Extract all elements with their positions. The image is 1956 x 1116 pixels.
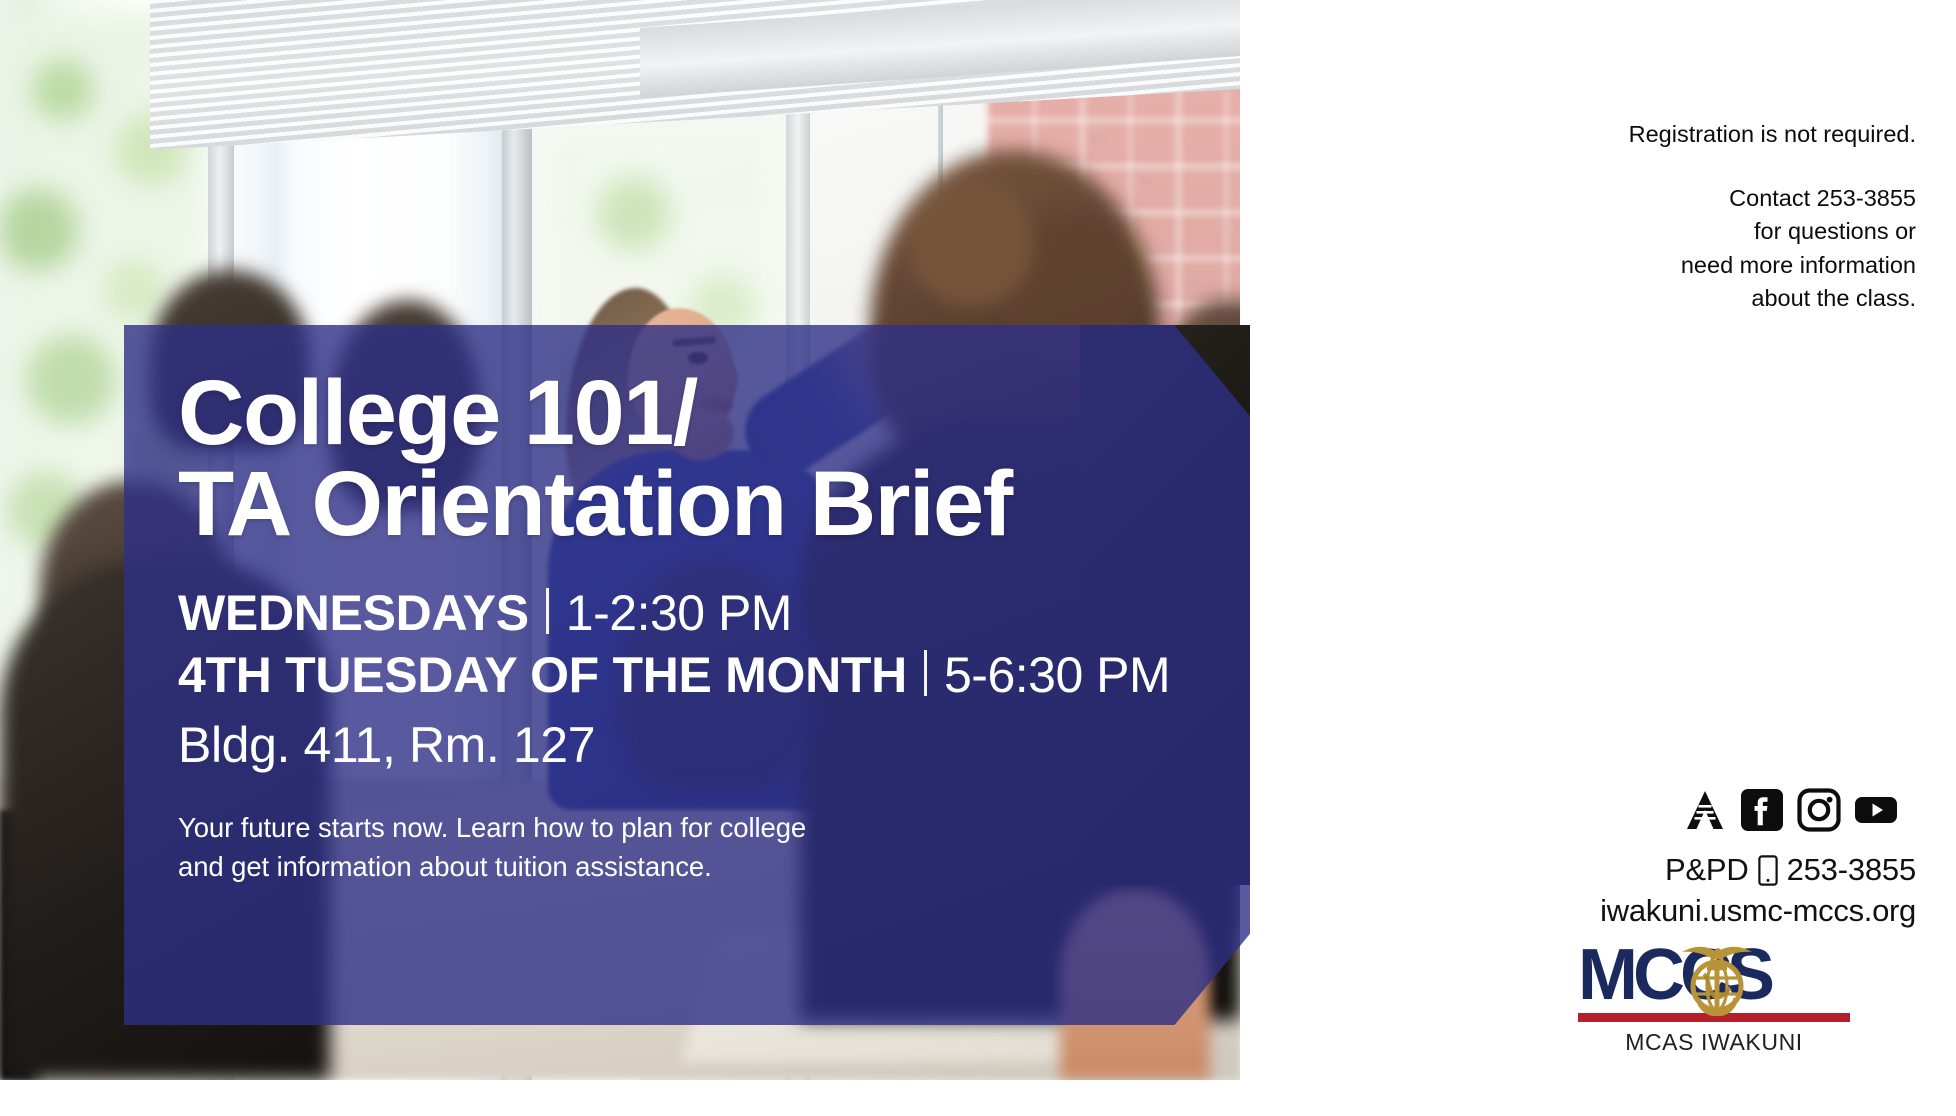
notes-block: Registration is not required. Contact 25… — [1516, 118, 1916, 316]
flyer-root: College 101/ TA Orientation Brief WEDNES… — [0, 0, 1956, 1116]
instagram-icon[interactable] — [1797, 788, 1841, 832]
event-location: Bldg. 411, Rm. 127 — [178, 716, 1188, 774]
schedule-list: WEDNESDAYS 1-2:30 PM 4TH TUESDAY OF THE … — [178, 584, 1188, 704]
registration-note: Registration is not required. — [1516, 118, 1916, 152]
phone-line: P&PD 253-3855 — [1496, 852, 1916, 888]
flyer-title-line2: TA Orientation Brief — [178, 459, 1188, 550]
mccs-app-icon[interactable] — [1683, 788, 1727, 832]
panel-text-block: College 101/ TA Orientation Brief WEDNES… — [178, 368, 1188, 886]
youtube-icon[interactable] — [1854, 788, 1898, 832]
contact-note: Contact 253-3855 for questions or need m… — [1516, 182, 1916, 316]
phone-number[interactable]: 253-3855 — [1787, 852, 1916, 888]
notes-spacer — [1516, 152, 1916, 182]
schedule-row: WEDNESDAYS 1-2:30 PM — [178, 584, 1188, 642]
mccs-logo: MCCS — [1578, 940, 1878, 1056]
eagle-globe-anchor-icon — [1674, 936, 1760, 1016]
phone-department-label: P&PD — [1665, 852, 1749, 888]
mccs-wordmark-row: MCCS — [1578, 940, 1878, 1010]
schedule-divider — [924, 650, 927, 696]
mobile-phone-icon — [1758, 855, 1778, 886]
contact-lines: P&PD 253-3855 iwakuni.usmc-mccs.org — [1496, 852, 1916, 929]
website-url[interactable]: iwakuni.usmc-mccs.org — [1496, 893, 1916, 929]
flyer-title-line1: College 101/ — [178, 362, 697, 464]
facebook-icon[interactable] — [1740, 788, 1784, 832]
schedule-divider — [546, 588, 549, 634]
event-description: Your future starts now. Learn how to pla… — [178, 808, 1188, 886]
right-column: Registration is not required. Contact 25… — [1250, 0, 1956, 1116]
schedule-time: 1-2:30 PM — [566, 584, 792, 642]
social-icons-row — [1683, 788, 1898, 832]
schedule-day: 4TH TUESDAY OF THE MONTH — [178, 647, 907, 703]
mccs-installation-name: MCAS IWAKUNI — [1578, 1029, 1850, 1056]
schedule-day: WEDNESDAYS — [178, 585, 529, 641]
schedule-time: 5-6:30 PM — [944, 646, 1170, 704]
flyer-title: College 101/ TA Orientation Brief — [178, 368, 1188, 550]
schedule-row: 4TH TUESDAY OF THE MONTH 5-6:30 PM — [178, 646, 1188, 704]
